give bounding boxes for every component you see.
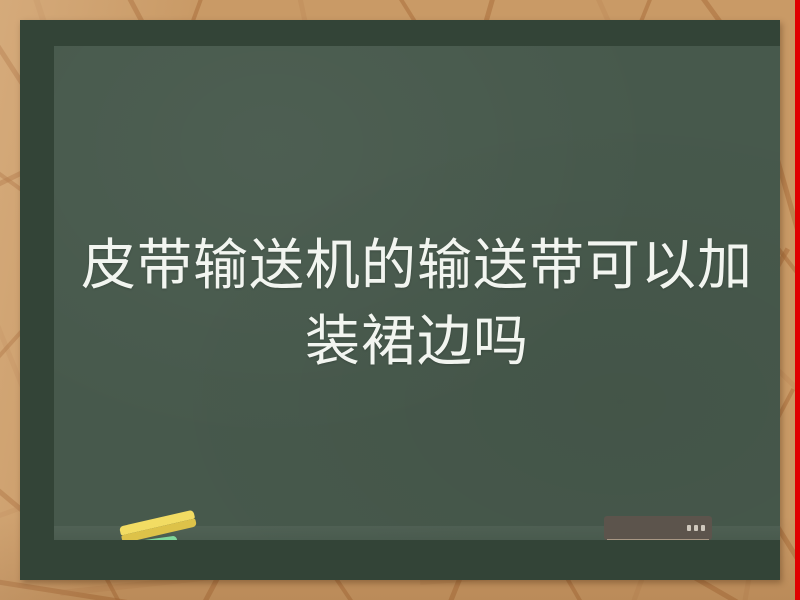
board-headline-text: 皮带输送机的输送带可以加装裙边吗 xyxy=(54,46,780,380)
chalk-sticks-group xyxy=(90,508,250,540)
eraser-dot xyxy=(687,525,691,531)
eraser-body xyxy=(604,516,712,540)
eraser-felt-shadow xyxy=(607,539,709,540)
eraser-dot xyxy=(694,525,698,531)
eraser-grip-dots xyxy=(687,525,705,531)
eraser-dot xyxy=(701,525,705,531)
blackboard-eraser[interactable] xyxy=(604,516,712,540)
chalkboard-surface: 皮带输送机的输送带可以加装裙边吗 xyxy=(54,46,780,540)
chalk-yellow[interactable] xyxy=(119,510,197,540)
chalkboard-frame: 皮带输送机的输送带可以加装裙边吗 xyxy=(20,20,780,580)
right-edge-accent-stripe xyxy=(795,0,800,600)
